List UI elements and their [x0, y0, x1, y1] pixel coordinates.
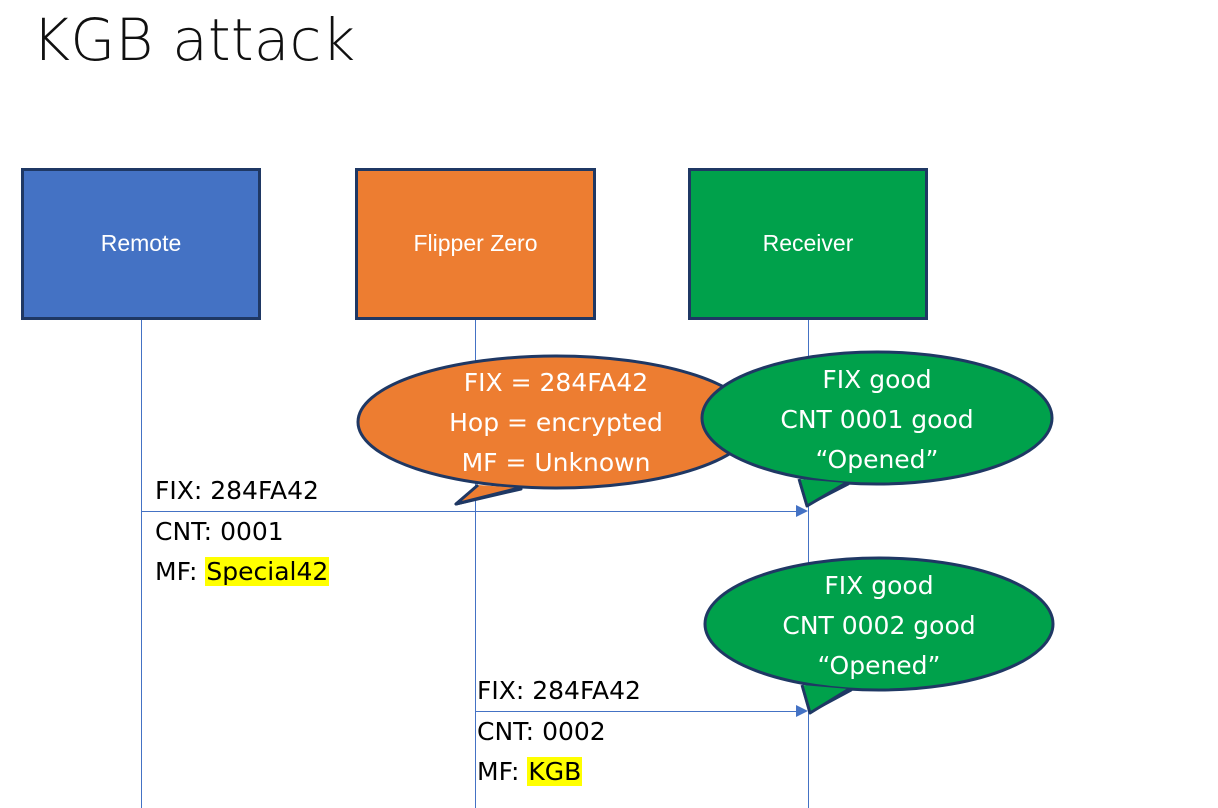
- bubble-tail-outline-flipper: [456, 485, 519, 504]
- message-label-1-line-1: FIX: 284FA42: [155, 470, 319, 512]
- bubble-body-receiver-1: [702, 352, 1052, 484]
- message-label-1-line-3: MF: Special42: [155, 551, 329, 593]
- message-label-1-line-1-key: FIX:: [155, 476, 210, 505]
- message-label-2-line-1-key: FIX:: [477, 676, 532, 705]
- actor-box-flipper[interactable]: Flipper Zero: [355, 168, 596, 320]
- actor-label-remote: Remote: [101, 230, 182, 258]
- bubble-body-receiver-2: [705, 558, 1053, 690]
- message-label-2-line-1: FIX: 284FA42: [477, 670, 641, 712]
- message-label-1-line-3-key: MF:: [155, 557, 205, 586]
- message-label-2-line-3-key: MF:: [477, 757, 527, 786]
- bubble-body-flipper: [358, 356, 754, 488]
- message-label-2-line-3-value: KGB: [527, 757, 582, 786]
- message-label-2-line-1-value: 284FA42: [532, 676, 641, 705]
- speech-bubble-flipper-analysis[interactable]: FIX = 284FA42 Hop = encrypted MF = Unkno…: [356, 352, 756, 514]
- message-label-2-line-3: MF: KGB: [477, 751, 582, 793]
- message-label-1-line-2-key: CNT:: [155, 517, 220, 546]
- message-label-1-line-1-value: 284FA42: [210, 476, 319, 505]
- bubble-tail-outline-receiver-1: [799, 479, 846, 506]
- slide-canvas: KGB attack Remote Flipper Zero Receiver …: [0, 0, 1218, 808]
- actor-label-flipper: Flipper Zero: [414, 230, 538, 258]
- message-label-1-line-3-value: Special42: [205, 557, 329, 586]
- message-label-2-line-2-key: CNT:: [477, 717, 542, 746]
- actor-label-receiver: Receiver: [763, 230, 854, 258]
- actor-box-remote[interactable]: Remote: [21, 168, 261, 320]
- speech-bubble-receiver-result-2[interactable]: FIX good CNT 0002 good “Opened”: [703, 554, 1055, 718]
- actor-box-receiver[interactable]: Receiver: [688, 168, 928, 320]
- message-label-1-line-2: CNT: 0001: [155, 511, 284, 553]
- page-title: KGB attack: [32, 6, 355, 74]
- bubble-tail-outline-receiver-2: [802, 685, 849, 713]
- message-label-2-line-2-value: 0002: [542, 717, 606, 746]
- message-label-2-line-2: CNT: 0002: [477, 711, 606, 753]
- lifeline-remote: [141, 320, 142, 808]
- message-label-1-line-2-value: 0001: [220, 517, 284, 546]
- speech-bubble-receiver-result-1[interactable]: FIX good CNT 0001 good “Opened”: [700, 350, 1054, 512]
